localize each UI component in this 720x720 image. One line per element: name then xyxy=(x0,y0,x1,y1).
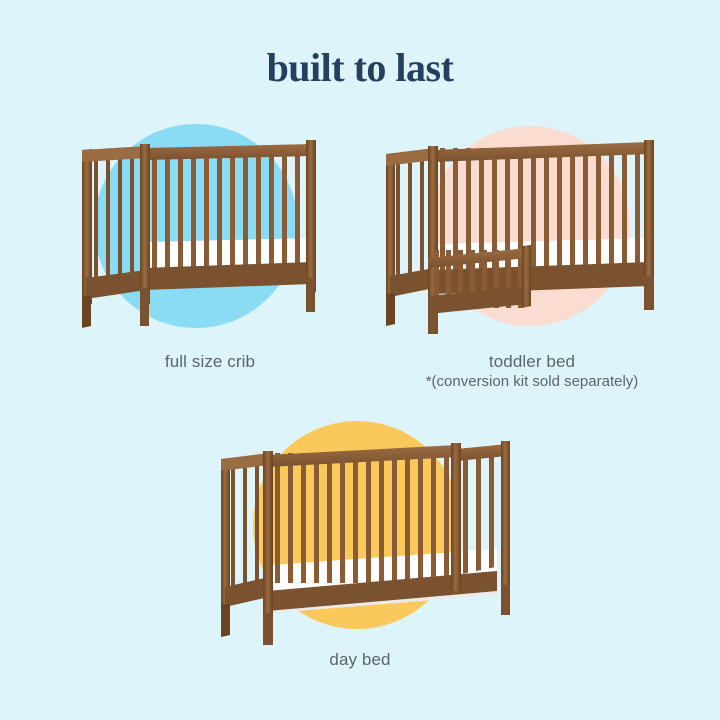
crib-full-size-illustration xyxy=(60,118,360,343)
leg-front-left xyxy=(140,288,149,326)
panel-day-bed xyxy=(205,415,515,650)
caption-label: toddler bed xyxy=(489,352,575,371)
leg-front-left xyxy=(263,613,273,645)
crib-full-size-svg xyxy=(60,118,360,343)
front-right-post xyxy=(644,140,654,290)
crib-day-bed-svg xyxy=(205,415,515,650)
leg-far-right xyxy=(501,585,510,615)
page-title: built to last xyxy=(0,44,720,91)
front-left-post xyxy=(140,144,150,304)
leg-front-right xyxy=(306,278,315,312)
caption-label: day bed xyxy=(329,650,390,669)
crib-day-bed-illustration xyxy=(205,415,515,650)
front-right-post xyxy=(306,140,316,292)
leg-front-left xyxy=(428,302,438,334)
caption-sublabel: *(conversion kit sold separately) xyxy=(382,373,682,391)
caption-day-bed: day bed xyxy=(205,650,515,670)
infographic-canvas: built to last xyxy=(0,0,720,720)
caption-toddler-bed: toddler bed *(conversion kit sold separa… xyxy=(382,352,682,391)
crib-toddler-bed-svg xyxy=(382,118,682,343)
panel-toddler-bed xyxy=(382,118,682,343)
left-end-panel xyxy=(82,146,146,306)
crib-toddler-bed-illustration xyxy=(382,118,682,343)
guard-rail-post xyxy=(522,245,531,308)
caption-full-size-crib: full size crib xyxy=(60,352,360,372)
leg-back-left xyxy=(82,295,91,328)
mid-right-post xyxy=(451,443,461,591)
leg-front-right xyxy=(644,276,654,310)
front-left-post xyxy=(263,451,273,627)
caption-label: full size crib xyxy=(165,352,255,371)
left-end-panel xyxy=(386,148,434,302)
far-right-post xyxy=(501,441,510,589)
leg-back-left xyxy=(386,293,395,326)
panel-full-size-crib xyxy=(60,118,360,343)
leg-back-left xyxy=(221,604,230,637)
